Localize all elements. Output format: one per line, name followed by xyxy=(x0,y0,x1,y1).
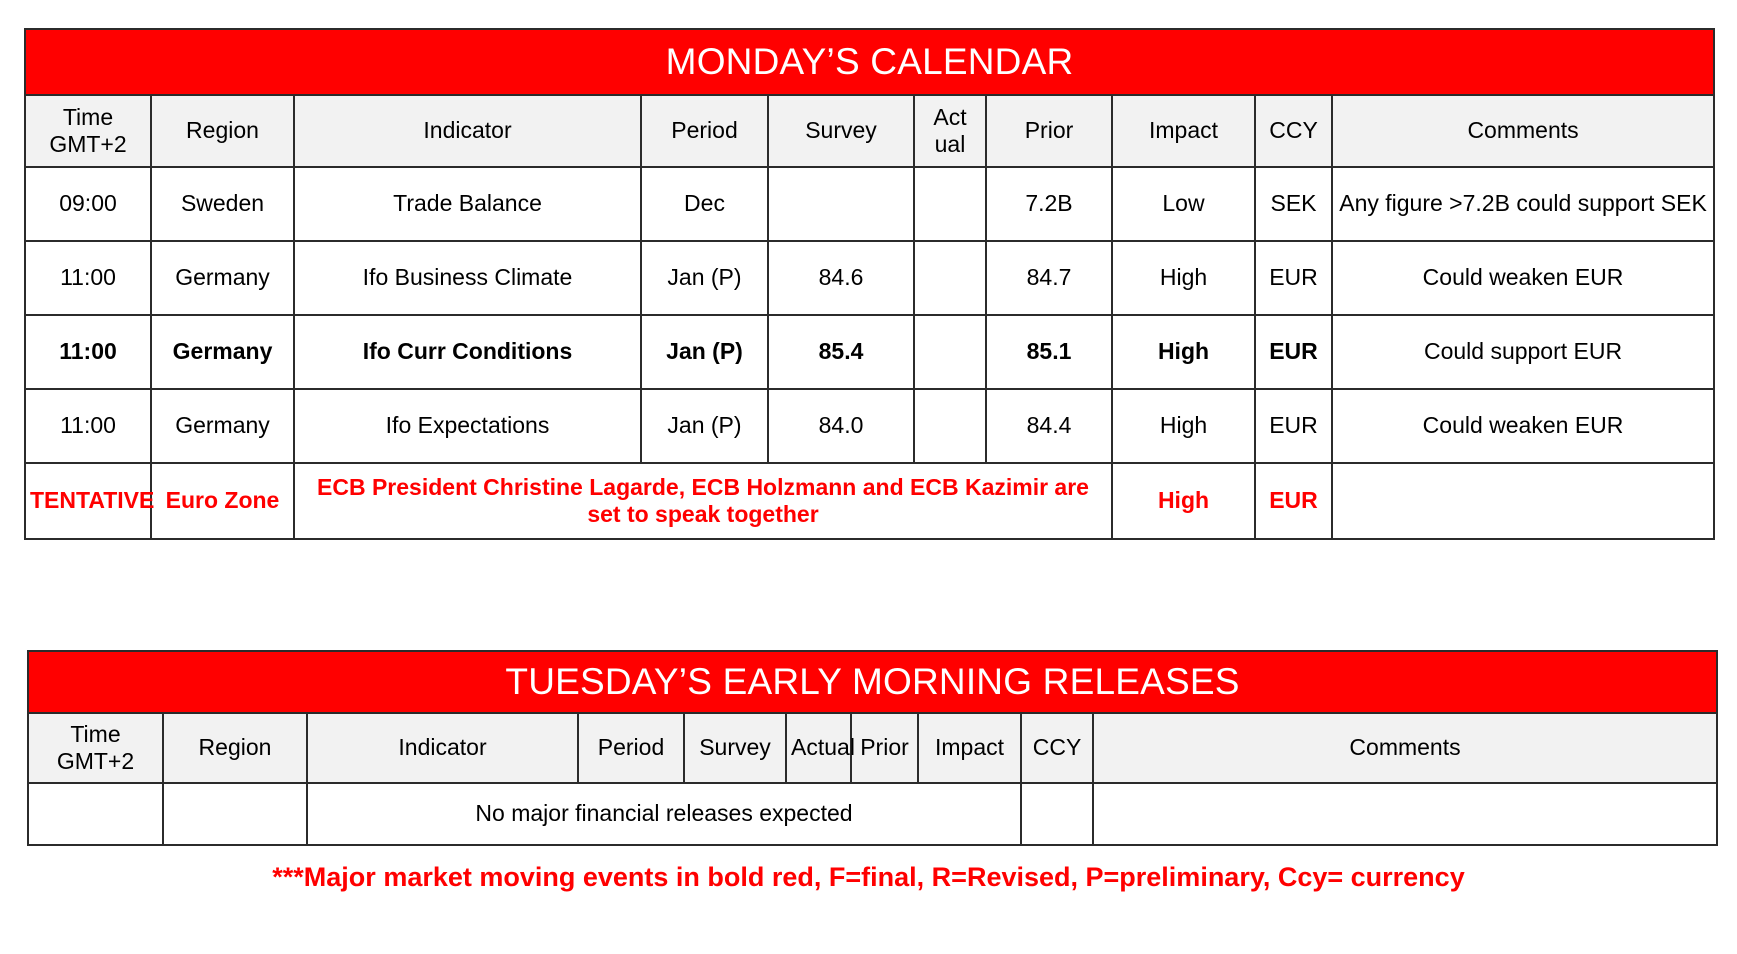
cell-no-releases-message: No major financial releases expected xyxy=(307,783,1021,845)
cell-survey: 85.4 xyxy=(768,315,914,389)
cell-actual xyxy=(914,167,986,241)
cell-survey: 84.6 xyxy=(768,241,914,315)
column-header-time-line2: GMT+2 xyxy=(49,131,126,157)
cell-region: Euro Zone xyxy=(151,463,294,539)
table-row: 11:00 Germany Ifo Business Climate Jan (… xyxy=(25,241,1714,315)
cell-indicator: Ifo Expectations xyxy=(294,389,641,463)
cell-comments: Could weaken EUR xyxy=(1332,241,1714,315)
tuesday-calendar-table: TUESDAY’S EARLY MORNING RELEASES Time GM… xyxy=(27,650,1718,846)
column-header-impact: Impact xyxy=(918,713,1021,783)
cell-ccy: SEK xyxy=(1255,167,1332,241)
cell-impact: High xyxy=(1112,241,1255,315)
column-header-ccy: CCY xyxy=(1021,713,1093,783)
table-row: 11:00 Germany Ifo Expectations Jan (P) 8… xyxy=(25,389,1714,463)
economic-calendar-page: MONDAY’S CALENDAR Time GMT+2 Region Indi… xyxy=(0,0,1737,954)
cell-comments: Could support EUR xyxy=(1332,315,1714,389)
column-header-time: Time GMT+2 xyxy=(25,95,151,167)
column-header-time-line2: GMT+2 xyxy=(57,748,134,774)
cell-survey xyxy=(768,167,914,241)
monday-title: MONDAY’S CALENDAR xyxy=(25,29,1714,95)
cell-prior: 85.1 xyxy=(986,315,1112,389)
cell-impact: High xyxy=(1112,463,1255,539)
cell-period: Jan (P) xyxy=(641,389,768,463)
cell-comments xyxy=(1332,463,1714,539)
cell-ccy: EUR xyxy=(1255,241,1332,315)
column-header-period: Period xyxy=(641,95,768,167)
cell-comments: Could weaken EUR xyxy=(1332,389,1714,463)
legend-note: ***Major market moving events in bold re… xyxy=(0,862,1737,893)
column-header-ccy: CCY xyxy=(1255,95,1332,167)
column-header-impact: Impact xyxy=(1112,95,1255,167)
cell-region: Germany xyxy=(151,241,294,315)
cell-period: Dec xyxy=(641,167,768,241)
cell-indicator: Ifo Business Climate xyxy=(294,241,641,315)
column-header-time-line1: Time xyxy=(70,721,120,747)
cell-region xyxy=(163,783,307,845)
column-header-period: Period xyxy=(578,713,684,783)
monday-column-header-row: Time GMT+2 Region Indicator Period Surve… xyxy=(25,95,1714,167)
cell-indicator: Trade Balance xyxy=(294,167,641,241)
cell-time: TENTATIVE xyxy=(25,463,151,539)
cell-speaker-event: ECB President Christine Lagarde, ECB Hol… xyxy=(294,463,1112,539)
cell-prior: 7.2B xyxy=(986,167,1112,241)
column-header-survey: Survey xyxy=(684,713,786,783)
cell-period: Jan (P) xyxy=(641,241,768,315)
cell-ccy: EUR xyxy=(1255,463,1332,539)
cell-impact: High xyxy=(1112,389,1255,463)
cell-actual xyxy=(914,315,986,389)
column-header-actual: Act ual xyxy=(914,95,986,167)
cell-actual xyxy=(914,241,986,315)
column-header-prior: Prior xyxy=(986,95,1112,167)
cell-region: Germany xyxy=(151,315,294,389)
table-row-no-releases: No major financial releases expected xyxy=(28,783,1717,845)
cell-impact: Low xyxy=(1112,167,1255,241)
cell-impact: High xyxy=(1112,315,1255,389)
column-header-comments: Comments xyxy=(1332,95,1714,167)
cell-comments: Any figure >7.2B could support SEK xyxy=(1332,167,1714,241)
column-header-indicator: Indicator xyxy=(307,713,578,783)
table-row: 09:00 Sweden Trade Balance Dec 7.2B Low … xyxy=(25,167,1714,241)
column-header-time-line1: Time xyxy=(63,104,113,130)
cell-comments xyxy=(1093,783,1717,845)
column-header-actual-line2: ual xyxy=(935,131,966,157)
column-header-region: Region xyxy=(163,713,307,783)
monday-calendar-table: MONDAY’S CALENDAR Time GMT+2 Region Indi… xyxy=(24,28,1715,540)
cell-ccy: EUR xyxy=(1255,389,1332,463)
cell-time: 09:00 xyxy=(25,167,151,241)
column-header-actual: Actual xyxy=(786,713,851,783)
column-header-actual-line1: Act xyxy=(933,104,966,130)
column-header-indicator: Indicator xyxy=(294,95,641,167)
column-header-region: Region xyxy=(151,95,294,167)
tuesday-title-row: TUESDAY’S EARLY MORNING RELEASES xyxy=(28,651,1717,713)
column-header-comments: Comments xyxy=(1093,713,1717,783)
tuesday-column-header-row: Time GMT+2 Region Indicator Period Surve… xyxy=(28,713,1717,783)
cell-time: 11:00 xyxy=(25,389,151,463)
cell-region: Germany xyxy=(151,389,294,463)
tuesday-title: TUESDAY’S EARLY MORNING RELEASES xyxy=(28,651,1717,713)
cell-ccy: EUR xyxy=(1255,315,1332,389)
monday-title-row: MONDAY’S CALENDAR xyxy=(25,29,1714,95)
column-header-prior: Prior xyxy=(851,713,918,783)
cell-region: Sweden xyxy=(151,167,294,241)
table-row: 11:00 Germany Ifo Curr Conditions Jan (P… xyxy=(25,315,1714,389)
cell-time: 11:00 xyxy=(25,315,151,389)
table-row-speakers: TENTATIVE Euro Zone ECB President Christ… xyxy=(25,463,1714,539)
column-header-survey: Survey xyxy=(768,95,914,167)
cell-period: Jan (P) xyxy=(641,315,768,389)
cell-actual xyxy=(914,389,986,463)
cell-time: 11:00 xyxy=(25,241,151,315)
column-header-time: Time GMT+2 xyxy=(28,713,163,783)
cell-prior: 84.4 xyxy=(986,389,1112,463)
cell-survey: 84.0 xyxy=(768,389,914,463)
cell-time xyxy=(28,783,163,845)
cell-ccy xyxy=(1021,783,1093,845)
cell-prior: 84.7 xyxy=(986,241,1112,315)
cell-indicator: Ifo Curr Conditions xyxy=(294,315,641,389)
